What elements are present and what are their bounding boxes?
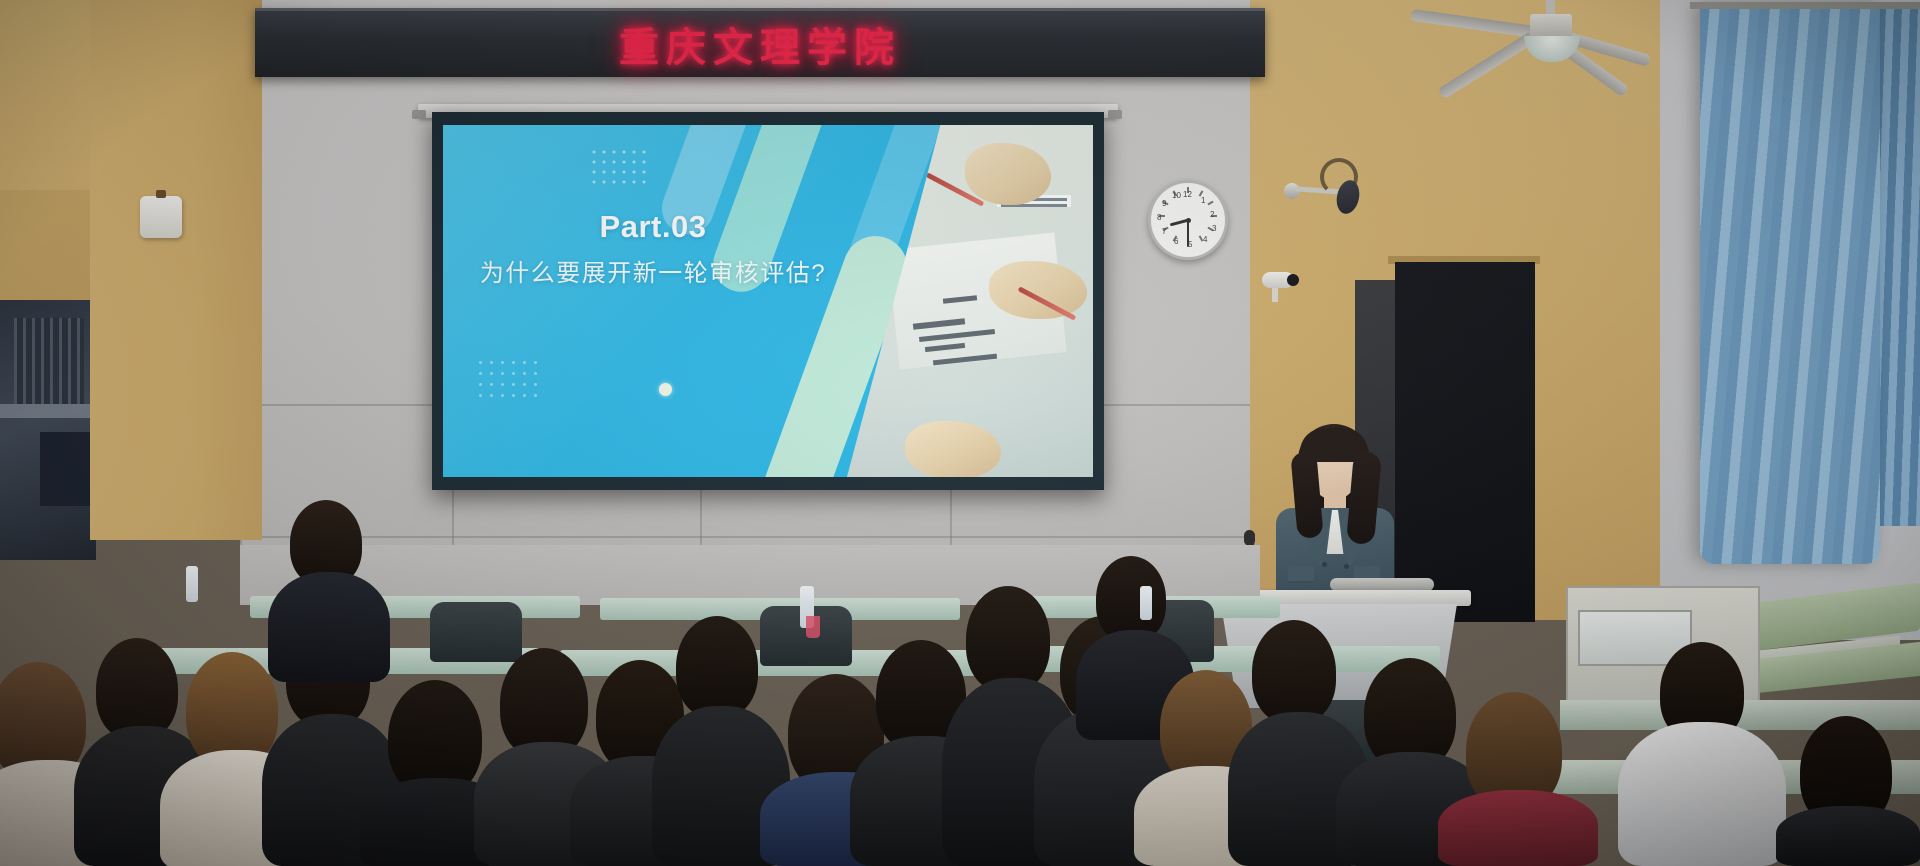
clock-numeral: 12 [1183, 190, 1192, 199]
wall-seam [240, 536, 1260, 538]
curtain-rod [1690, 2, 1920, 9]
audience-head [96, 638, 178, 740]
slide-part-label: Part.03 [443, 209, 863, 245]
left-dark-box [40, 432, 96, 506]
coat-button [1344, 564, 1349, 569]
audience-shoulders [268, 572, 390, 682]
bottle-label [806, 616, 820, 638]
left-wall-column [90, 0, 262, 540]
coat-pocket [1288, 566, 1314, 583]
clock-numeral: 9 [1162, 199, 1166, 208]
classroom-presentation-photo: 重庆文理学院 [0, 0, 1920, 866]
clock-numeral: 6 [1174, 237, 1178, 246]
clock-numeral: 2 [1210, 210, 1214, 219]
coat-button [1322, 562, 1327, 567]
window-curtain [1700, 4, 1880, 564]
presentation-slide: Part.03 为什么要展开新一轮审核评估? [443, 125, 1093, 477]
projector-screen: Part.03 为什么要展开新一轮审核评估? [432, 112, 1104, 490]
slide-question: 为什么要展开新一轮审核评估? [443, 253, 863, 288]
screen-hook-right [1108, 110, 1122, 119]
clock-center-pin [1186, 218, 1191, 223]
audience-head [676, 616, 758, 718]
security-camera-icon [1262, 272, 1294, 288]
wall-clock: 12 1 2 3 4 5 6 7 8 9 10 [1148, 180, 1228, 260]
slide-dot-accent [659, 383, 672, 396]
lecture-hall-room: 重庆文理学院 [0, 0, 1920, 866]
window-bars [14, 318, 84, 404]
audience-shoulders [1776, 806, 1920, 866]
clock-numeral: 7 [1162, 227, 1166, 236]
wall-speaker-icon [140, 196, 182, 238]
slide-dot-pattern [589, 147, 651, 187]
clock-numeral: 10 [1172, 191, 1181, 200]
chair-back [430, 602, 522, 662]
clock-minute-hand [1187, 220, 1189, 247]
water-bottle [1140, 586, 1152, 620]
clock-numeral: 1 [1201, 196, 1205, 205]
audience-head [966, 586, 1050, 692]
audience-shoulders [1438, 790, 1598, 866]
screen-hook-left [412, 110, 426, 119]
doorway [1395, 262, 1535, 622]
window-sill [0, 404, 96, 418]
audience-head [1252, 620, 1336, 724]
led-banner: 重庆文理学院 [255, 8, 1265, 77]
clock-numeral: 3 [1212, 224, 1216, 233]
clock-numeral: 4 [1203, 235, 1207, 244]
water-bottle [186, 566, 198, 602]
led-banner-text: 重庆文理学院 [255, 11, 1265, 77]
slide-dot-pattern [475, 357, 545, 397]
clock-numeral: 8 [1157, 213, 1161, 222]
camera-arm [1272, 288, 1278, 302]
audience-shoulders [1618, 722, 1786, 866]
podium-microphone-head [1244, 530, 1255, 546]
